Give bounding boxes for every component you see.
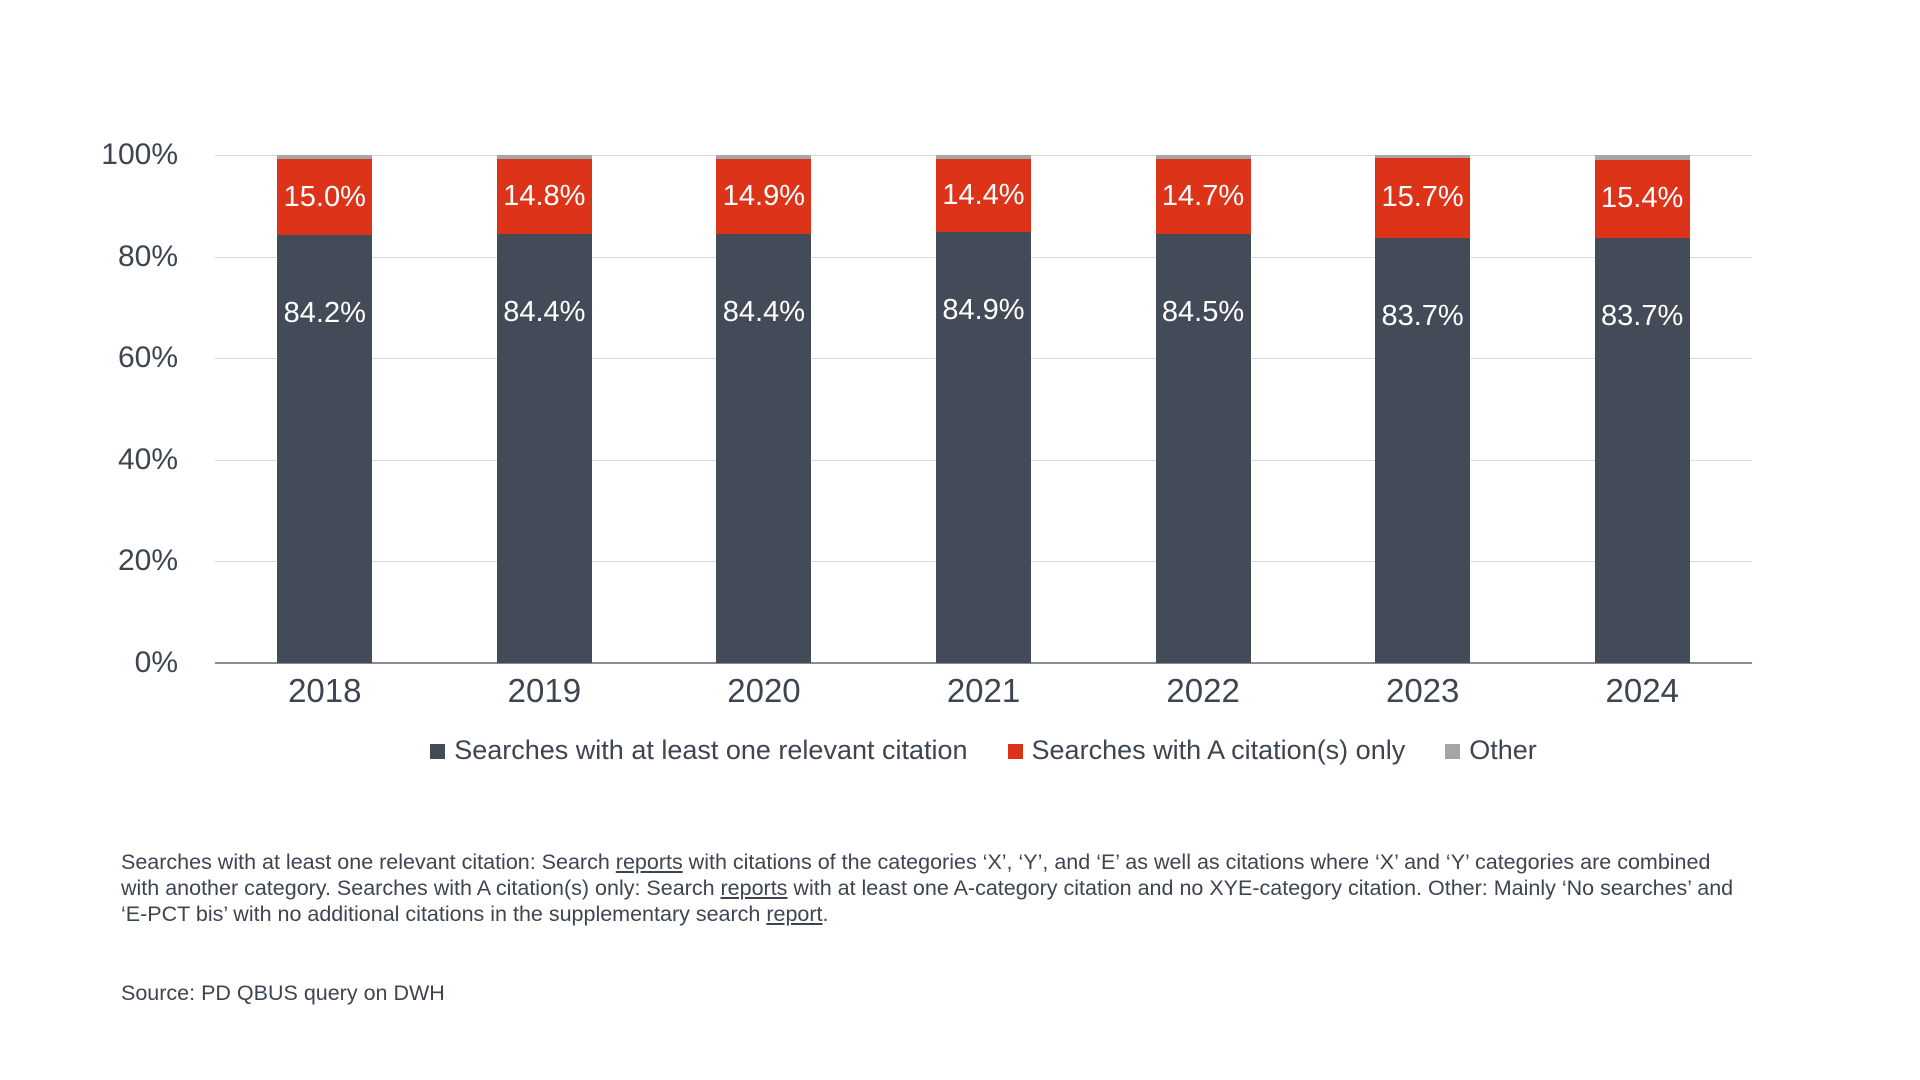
footnote-link-reports-1[interactable]: reports <box>616 850 683 874</box>
x-tick-label-2020: 2020 <box>654 672 874 710</box>
bar-segment-relevant[interactable]: 84.9% <box>936 232 1031 663</box>
bar-segment-label: 14.9% <box>723 182 805 211</box>
bar-segment-label: 84.5% <box>1162 298 1244 327</box>
bar-segment-label: 14.8% <box>503 182 585 211</box>
legend-swatch-icon <box>1445 744 1460 759</box>
chart-legend: Searches with at least one relevant cita… <box>215 735 1752 766</box>
bar-segment-label: 14.7% <box>1162 182 1244 211</box>
bar-stack: 14.8% 84.4% <box>497 155 592 663</box>
y-tick-label-40: 40% <box>48 443 178 477</box>
bar-segment-label: 84.9% <box>942 296 1024 325</box>
footnote-text-part-4: . <box>823 902 829 926</box>
bar-segment-label: 15.0% <box>284 183 366 212</box>
bar-segment-a-citation[interactable]: 14.7% <box>1156 159 1251 234</box>
bar-segment-label: 15.7% <box>1381 183 1463 212</box>
x-tick-label-2022: 2022 <box>1093 672 1313 710</box>
bar-segment-a-citation[interactable]: 14.4% <box>936 159 1031 232</box>
x-tick-label-2023: 2023 <box>1313 672 1533 710</box>
bar-segment-relevant[interactable]: 83.7% <box>1375 238 1470 663</box>
plot-area: 15.0% 84.2% 14.8% 84.4% 14.9% 84.4% <box>215 155 1752 663</box>
bars-layer: 15.0% 84.2% 14.8% 84.4% 14.9% 84.4% <box>215 155 1752 663</box>
footnote: Searches with at least one relevant cita… <box>121 849 1741 927</box>
legend-item-label: Searches with at least one relevant cita… <box>454 735 967 766</box>
bar-stack: 14.9% 84.4% <box>716 155 811 663</box>
bar-group-2022: 14.7% 84.5% <box>1093 155 1313 663</box>
bar-segment-a-citation[interactable]: 15.0% <box>277 159 372 235</box>
bar-segment-a-citation[interactable]: 15.7% <box>1375 158 1470 238</box>
x-axis: 2018 2019 2020 2021 2022 2023 2024 <box>215 672 1752 710</box>
y-tick-label-80: 80% <box>48 240 178 274</box>
bar-segment-label: 83.7% <box>1381 302 1463 331</box>
bar-segment-a-citation[interactable]: 14.9% <box>716 159 811 235</box>
footnote-text-part-1: Searches with at least one relevant cita… <box>121 850 616 874</box>
bar-segment-a-citation[interactable]: 15.4% <box>1595 160 1690 238</box>
bar-segment-label: 83.7% <box>1601 302 1683 331</box>
bar-segment-label: 84.4% <box>723 298 805 327</box>
legend-item-label: Other <box>1469 735 1537 766</box>
footnote-link-reports-2[interactable]: reports <box>721 876 788 900</box>
bar-stack: 15.7% 83.7% <box>1375 155 1470 663</box>
bar-segment-relevant[interactable]: 84.5% <box>1156 234 1251 663</box>
bar-group-2024: 15.4% 83.7% <box>1532 155 1752 663</box>
y-tick-label-0: 0% <box>48 646 178 680</box>
x-tick-label-2019: 2019 <box>435 672 655 710</box>
y-tick-label-20: 20% <box>48 544 178 578</box>
legend-item-a-citation-only[interactable]: Searches with A citation(s) only <box>1008 735 1406 766</box>
bar-segment-a-citation[interactable]: 14.8% <box>497 159 592 234</box>
x-tick-label-2021: 2021 <box>874 672 1094 710</box>
bar-stack: 14.7% 84.5% <box>1156 155 1251 663</box>
bar-segment-label: 84.4% <box>503 298 585 327</box>
bar-segment-label: 84.2% <box>284 299 366 328</box>
bar-segment-relevant[interactable]: 84.4% <box>497 234 592 663</box>
source-note: Source: PD QBUS query on DWH <box>121 981 445 1006</box>
bar-group-2020: 14.9% 84.4% <box>654 155 874 663</box>
bar-segment-relevant[interactable]: 84.4% <box>716 234 811 663</box>
legend-item-label: Searches with A citation(s) only <box>1032 735 1406 766</box>
legend-item-other[interactable]: Other <box>1445 735 1537 766</box>
x-tick-label-2024: 2024 <box>1532 672 1752 710</box>
legend-item-relevant-citation[interactable]: Searches with at least one relevant cita… <box>430 735 967 766</box>
y-tick-label-100: 100% <box>48 138 178 172</box>
legend-swatch-icon <box>1008 744 1023 759</box>
legend-swatch-icon <box>430 744 445 759</box>
bar-stack: 14.4% 84.9% <box>936 155 1031 663</box>
y-tick-label-60: 60% <box>48 341 178 375</box>
bar-segment-label: 14.4% <box>942 181 1024 210</box>
bar-group-2023: 15.7% 83.7% <box>1313 155 1533 663</box>
bar-stack: 15.0% 84.2% <box>277 155 372 663</box>
bar-stack: 15.4% 83.7% <box>1595 155 1690 663</box>
bar-group-2019: 14.8% 84.4% <box>435 155 655 663</box>
bar-segment-relevant[interactable]: 83.7% <box>1595 238 1690 663</box>
x-tick-label-2018: 2018 <box>215 672 435 710</box>
bar-segment-label: 15.4% <box>1601 184 1683 213</box>
bar-group-2021: 14.4% 84.9% <box>874 155 1094 663</box>
footnote-link-report-3[interactable]: report <box>766 902 822 926</box>
bar-segment-relevant[interactable]: 84.2% <box>277 235 372 663</box>
bar-group-2018: 15.0% 84.2% <box>215 155 435 663</box>
